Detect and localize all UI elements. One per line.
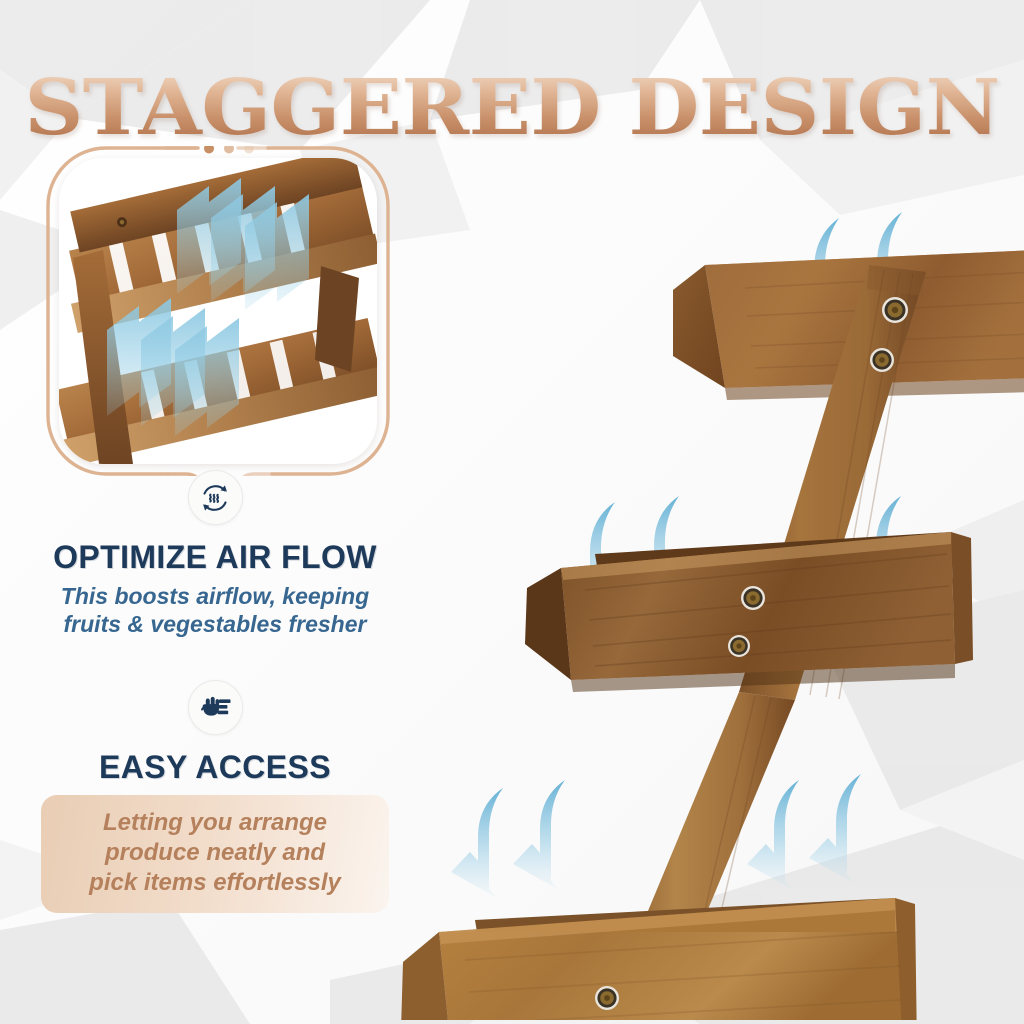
inset-product-photo <box>59 158 377 464</box>
airflow-arrows-bottom <box>451 774 861 898</box>
page-title: STAGGERED DESIGN <box>24 70 999 147</box>
easy-access-callout: Letting you arrange produce neatly and p… <box>41 795 389 913</box>
feature-easy-access: EASY ACCESS Letting you arrange produce … <box>0 680 430 913</box>
feature-optimize-air-flow: OPTIMIZE AIR FLOW This boosts airflow, k… <box>0 470 430 638</box>
product-tier-bottom <box>401 898 917 1020</box>
feature-body-line1: Letting you arrange <box>103 809 327 836</box>
page-title-wrapper: STAGGERED DESIGN <box>0 18 1024 198</box>
infographic-canvas: STAGGERED DESIGN <box>0 0 1024 1024</box>
feature-body-line2: fruits & vegestables fresher <box>64 611 367 637</box>
left-feature-column: OPTIMIZE AIR FLOW This boosts airflow, k… <box>0 132 430 942</box>
hand-grab-icon <box>188 680 243 735</box>
feature-body: This boosts airflow, keeping fruits & ve… <box>0 582 430 638</box>
inset-photo-graphic <box>59 158 377 464</box>
feature-body: Letting you arrange produce neatly and p… <box>55 808 375 898</box>
feature-title: OPTIMIZE AIR FLOW <box>0 541 430 575</box>
feature-title: EASY ACCESS <box>0 751 430 785</box>
feature-body-line1: This boosts airflow, keeping <box>61 583 369 609</box>
product-graphic <box>395 120 1024 1020</box>
feature-body-line3: pick items effortlessly <box>89 869 341 896</box>
airflow-cycle-icon <box>188 470 243 525</box>
feature-body-line2: produce neatly and <box>105 839 325 866</box>
product-image <box>395 120 1024 1020</box>
